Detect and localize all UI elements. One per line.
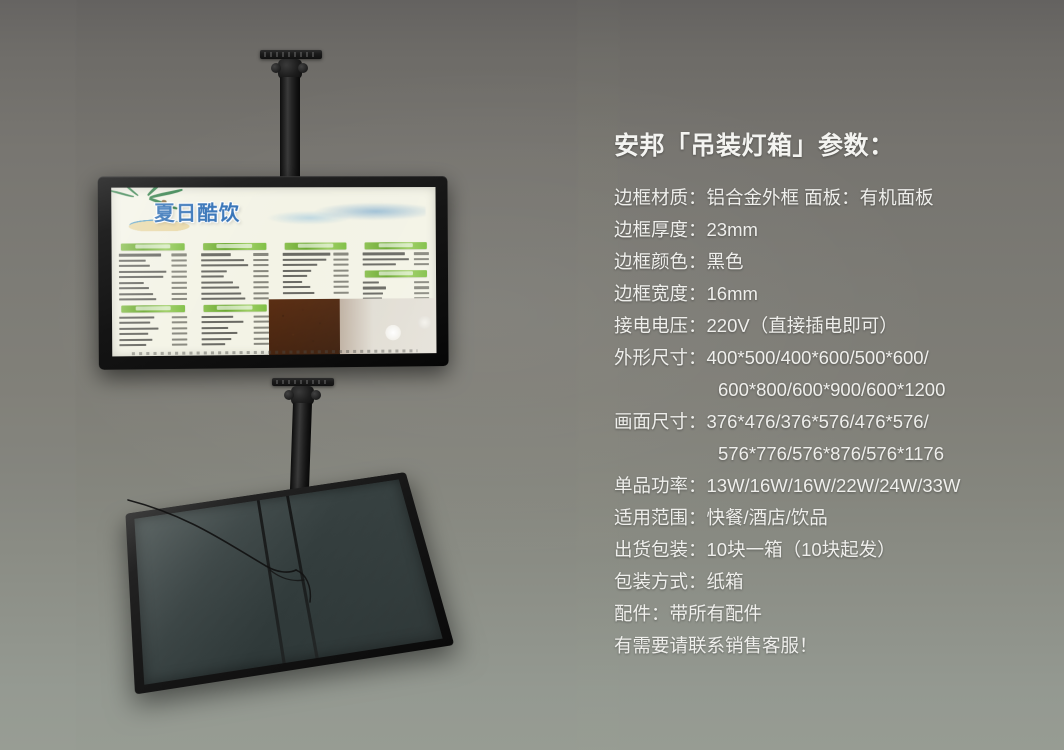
menu-title: 夏日酷饮 <box>154 196 240 226</box>
menu-item <box>201 285 268 290</box>
menu-column-2 <box>194 243 276 356</box>
menu-item <box>363 280 429 285</box>
menu-section <box>197 243 273 302</box>
menu-item <box>119 320 187 325</box>
section-header-banner <box>203 305 266 313</box>
swivel-knob-right-upper <box>298 63 308 73</box>
plate-slots <box>276 380 330 384</box>
menu-item-rows <box>197 252 273 301</box>
menu-item <box>363 257 429 261</box>
spec-line: 外形尺寸：400*500/400*600/500*600/ <box>614 342 1044 374</box>
spec-line: 画面尺寸：376*476/376*576/476*576/ <box>614 406 1044 438</box>
menu-item <box>201 325 268 330</box>
menu-item <box>201 342 268 347</box>
menu-item <box>282 290 349 295</box>
menu-item <box>119 332 187 337</box>
spec-line: 有需要请联系销售客服！ <box>614 630 1044 662</box>
menu-section <box>359 242 433 267</box>
ceiling-plate-upper <box>260 50 322 59</box>
menu-item <box>119 326 187 331</box>
plate-slots <box>264 52 318 57</box>
spec-line-list: 边框材质：铝合金外框 面板：有机面板边框厚度：23mm边框颜色：黑色边框宽度：1… <box>614 182 1044 662</box>
menu-item <box>201 314 268 319</box>
menu-item <box>119 253 187 258</box>
aluminium-frame-top: 夏日酷饮 <box>98 176 449 370</box>
section-header-banner <box>365 242 427 249</box>
menu-item <box>282 252 349 256</box>
menu-item-rows <box>115 253 191 302</box>
section-header-banner <box>284 242 347 249</box>
spec-line: 适用范围：快餐/酒店/饮品 <box>614 502 1044 534</box>
spec-line: 边框宽度：16mm <box>614 278 1044 310</box>
menu-column-1 <box>112 243 195 356</box>
menu-item <box>119 264 187 269</box>
water-splash-illustration <box>258 195 426 232</box>
swivel-knob-left-lower <box>284 390 294 400</box>
menu-item <box>282 263 349 268</box>
menu-item <box>119 343 187 348</box>
menu-item <box>201 269 268 274</box>
spec-line: 边框厚度：23mm <box>614 214 1044 246</box>
menu-item <box>282 285 349 290</box>
menu-item <box>201 252 268 256</box>
menu-item <box>119 275 187 280</box>
menu-item <box>282 257 349 261</box>
menu-item <box>119 315 187 320</box>
menu-item-rows <box>278 252 353 295</box>
menu-item <box>282 268 349 273</box>
menu-item <box>363 285 429 290</box>
spec-line: 576*776/576*876/576*1176 <box>614 438 1044 470</box>
menu-item <box>119 280 187 285</box>
menu-section <box>359 270 433 301</box>
ceiling-mount-upper <box>258 50 328 180</box>
menu-item <box>282 279 349 284</box>
menu-section <box>115 243 191 302</box>
power-cable <box>120 470 440 690</box>
spec-line: 包装方式：纸箱 <box>614 566 1044 598</box>
spec-panel: 安邦「吊装灯箱」参数： 边框材质：铝合金外框 面板：有机面板边框厚度：23mm边… <box>614 126 1044 662</box>
menu-item <box>201 280 268 285</box>
lightbox-top-illuminated: 夏日酷饮 <box>98 176 449 370</box>
menu-section <box>197 305 273 347</box>
menu-screen: 夏日酷饮 <box>111 187 436 356</box>
menu-item <box>201 258 268 263</box>
swivel-knob-right-lower <box>311 390 321 400</box>
menu-item <box>119 269 187 274</box>
menu-section <box>278 242 353 295</box>
coffee-photo <box>269 298 437 355</box>
menu-title-text: 夏日酷饮 <box>154 202 240 225</box>
swivel-knob-left-upper <box>271 63 281 73</box>
mount-pole-upper <box>280 77 300 182</box>
menu-item <box>201 274 268 279</box>
menu-item <box>363 262 429 266</box>
section-header-banner <box>203 243 266 250</box>
spec-line: 边框颜色：黑色 <box>614 246 1044 278</box>
menu-item-rows <box>115 315 191 348</box>
spec-title: 安邦「吊装灯箱」参数： <box>614 126 1044 162</box>
menu-item <box>119 337 187 342</box>
section-header-banner <box>121 243 185 250</box>
menu-item <box>282 274 349 279</box>
spec-line: 边框材质：铝合金外框 面板：有机面板 <box>614 182 1044 214</box>
menu-item <box>363 291 429 296</box>
spec-line: 接电电压：220V（直接插电即可） <box>614 310 1044 342</box>
spec-line: 出货包装：10块一箱（10块起发） <box>614 534 1044 566</box>
menu-item <box>201 296 268 301</box>
section-header-banner <box>365 270 427 277</box>
menu-item-rows <box>197 314 272 347</box>
menu-item <box>201 331 268 336</box>
menu-item <box>201 263 268 268</box>
menu-item <box>119 258 187 263</box>
spec-line: 配件：带所有配件 <box>614 598 1044 630</box>
menu-section <box>115 305 191 347</box>
menu-item <box>119 286 187 291</box>
menu-item-rows <box>359 251 433 267</box>
menu-item <box>201 336 268 341</box>
ceiling-plate-lower <box>272 378 334 386</box>
menu-item <box>201 291 268 296</box>
menu-item <box>119 292 187 297</box>
spec-line: 单品功率：13W/16W/16W/22W/24W/33W <box>614 470 1044 502</box>
section-header-banner <box>121 305 185 313</box>
spec-line: 600*800/600*900/600*1200 <box>614 374 1044 406</box>
menu-item <box>201 320 268 325</box>
menu-item <box>119 297 187 302</box>
menu-item <box>363 251 429 255</box>
